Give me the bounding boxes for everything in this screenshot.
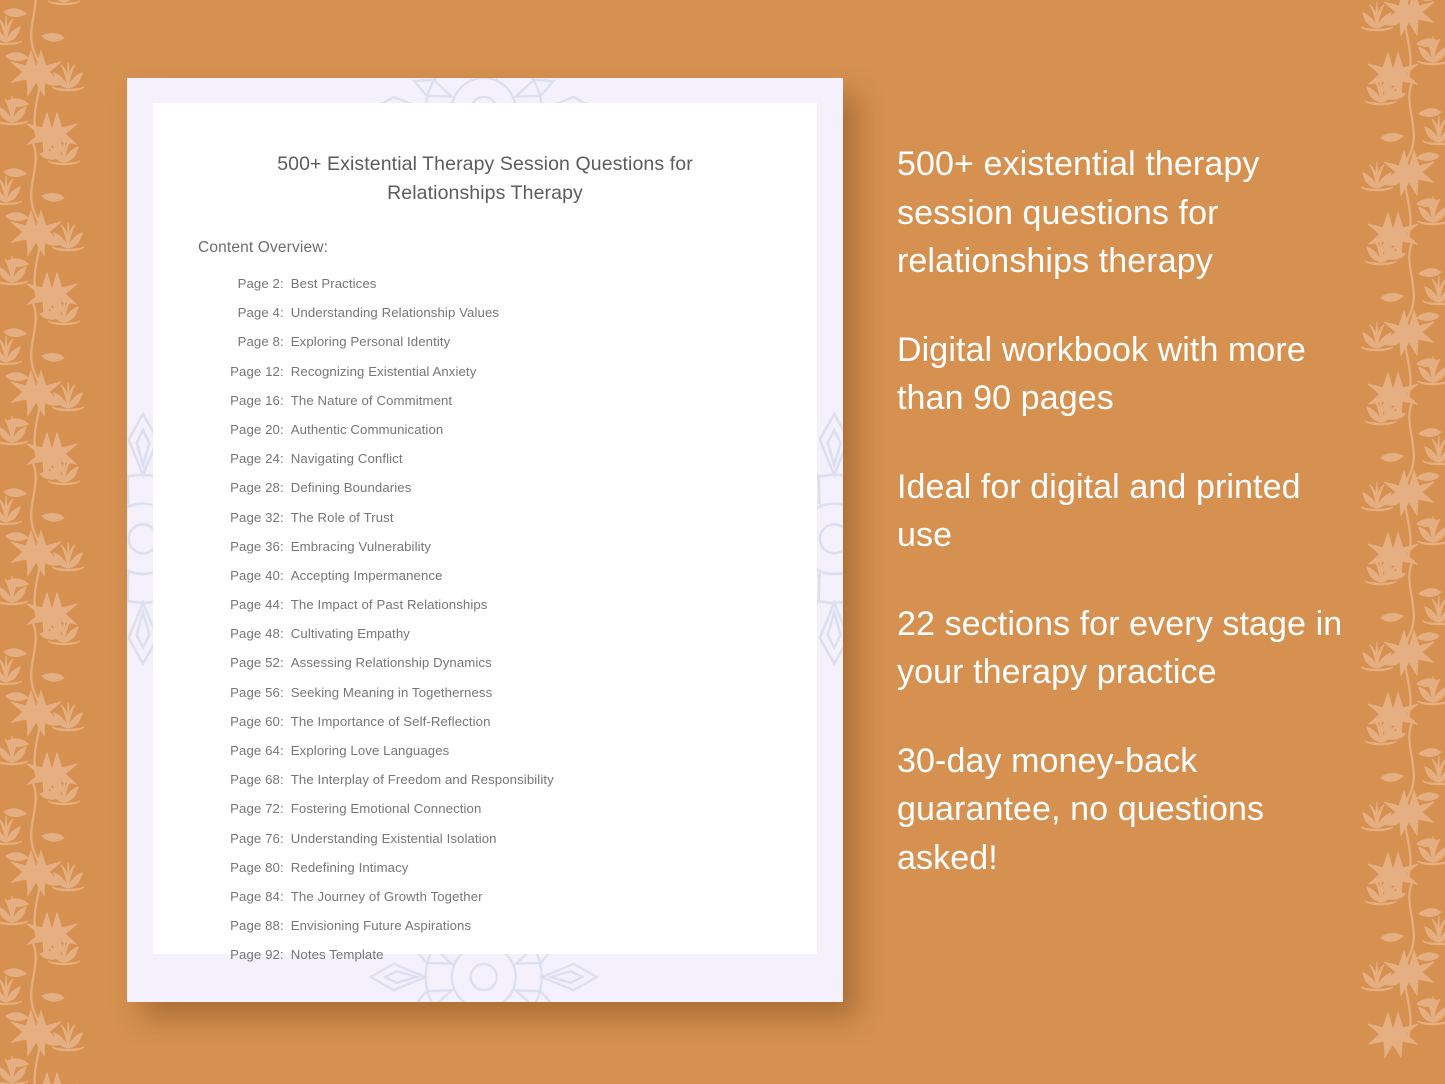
toc-separator: : (280, 480, 291, 495)
toc-page-number: Page 92 (221, 947, 280, 962)
promo-block: 500+ existential therapy session questio… (897, 140, 1357, 286)
toc-row: Page 12:Recognizing Existential Anxiety (153, 364, 817, 393)
toc-separator: : (280, 276, 291, 291)
toc-row: Page 4:Understanding Relationship Values (153, 305, 817, 334)
toc-separator: : (280, 918, 291, 933)
table-of-contents: Page 2:Best PracticesPage 4:Understandin… (153, 257, 817, 977)
toc-separator: : (280, 772, 291, 787)
toc-separator: : (280, 364, 291, 379)
toc-row: Page 80:Redefining Intimacy (153, 860, 817, 889)
toc-page-number: Page 48 (221, 626, 280, 641)
toc-section-title: Authentic Communication (291, 422, 444, 437)
toc-row: Page 72:Fostering Emotional Connection (153, 801, 817, 830)
content-overview-label: Content Overview: (153, 207, 817, 257)
toc-section-title: The Role of Trust (291, 510, 394, 525)
toc-page-number: Page 16 (221, 393, 280, 408)
toc-section-title: Fostering Emotional Connection (291, 801, 482, 816)
toc-row: Page 52:Assessing Relationship Dynamics (153, 655, 817, 684)
toc-row: Page 44:The Impact of Past Relationships (153, 597, 817, 626)
toc-row: Page 84:The Journey of Growth Together (153, 889, 817, 918)
toc-page-number: Page 32 (221, 510, 280, 525)
toc-separator: : (280, 568, 291, 583)
toc-row: Page 48:Cultivating Empathy (153, 626, 817, 655)
toc-page-number: Page 84 (221, 889, 280, 904)
promo-block: 22 sections for every stage in your ther… (897, 600, 1357, 697)
toc-page-number: Page 12 (221, 364, 280, 379)
toc-separator: : (280, 539, 291, 554)
promo-block: 30-day money-back guarantee, no question… (897, 737, 1357, 883)
toc-page-number: Page 8 (221, 334, 280, 349)
toc-separator: : (280, 860, 291, 875)
toc-separator: : (280, 831, 291, 846)
toc-row: Page 20:Authentic Communication (153, 422, 817, 451)
toc-section-title: The Impact of Past Relationships (291, 597, 488, 612)
toc-separator: : (280, 714, 291, 729)
toc-section-title: Envisioning Future Aspirations (291, 918, 471, 933)
toc-separator: : (280, 451, 291, 466)
toc-row: Page 88:Envisioning Future Aspirations (153, 918, 817, 947)
product-listing-image: 500+ Existential Therapy Session Questio… (0, 0, 1445, 1084)
toc-section-title: The Interplay of Freedom and Responsibil… (291, 772, 554, 787)
toc-separator: : (280, 685, 291, 700)
toc-separator: : (280, 626, 291, 641)
toc-page-number: Page 4 (221, 305, 280, 320)
toc-section-title: Embracing Vulnerability (291, 539, 431, 554)
toc-row: Page 16:The Nature of Commitment (153, 393, 817, 422)
toc-separator: : (280, 801, 291, 816)
toc-page-number: Page 80 (221, 860, 280, 875)
toc-section-title: Redefining Intimacy (291, 860, 409, 875)
floral-vine-border-left-icon (0, 0, 142, 1084)
toc-separator: : (280, 947, 291, 962)
toc-row: Page 60:The Importance of Self-Reflectio… (153, 714, 817, 743)
toc-separator: : (280, 334, 291, 349)
toc-page-number: Page 56 (221, 685, 280, 700)
toc-section-title: Assessing Relationship Dynamics (291, 655, 492, 670)
toc-section-title: Exploring Personal Identity (291, 334, 451, 349)
toc-section-title: Understanding Relationship Values (291, 305, 499, 320)
toc-separator: : (280, 889, 291, 904)
toc-row: Page 24:Navigating Conflict (153, 451, 817, 480)
promo-copy-column: 500+ existential therapy session questio… (897, 140, 1357, 882)
toc-page-number: Page 20 (221, 422, 280, 437)
toc-section-title: The Importance of Self-Reflection (291, 714, 491, 729)
toc-page-number: Page 40 (221, 568, 280, 583)
toc-row: Page 36:Embracing Vulnerability (153, 539, 817, 568)
toc-page-number: Page 72 (221, 801, 280, 816)
toc-section-title: Best Practices (291, 276, 377, 291)
workbook-preview-card: 500+ Existential Therapy Session Questio… (127, 78, 843, 1002)
toc-separator: : (280, 422, 291, 437)
toc-section-title: Defining Boundaries (291, 480, 412, 495)
toc-section-title: Exploring Love Languages (291, 743, 450, 758)
toc-page-number: Page 24 (221, 451, 280, 466)
toc-row: Page 32:The Role of Trust (153, 510, 817, 539)
workbook-page-sheet: 500+ Existential Therapy Session Questio… (153, 103, 817, 954)
toc-row: Page 68:The Interplay of Freedom and Res… (153, 772, 817, 801)
promo-block: Digital workbook with more than 90 pages (897, 326, 1357, 423)
toc-page-number: Page 44 (221, 597, 280, 612)
toc-row: Page 92:Notes Template (153, 947, 817, 976)
toc-separator: : (280, 597, 291, 612)
toc-separator: : (280, 393, 291, 408)
toc-separator: : (280, 305, 291, 320)
toc-row: Page 8:Exploring Personal Identity (153, 334, 817, 363)
page-title: 500+ Existential Therapy Session Questio… (153, 103, 817, 207)
toc-row: Page 56:Seeking Meaning in Togetherness (153, 685, 817, 714)
toc-section-title: Accepting Impermanence (291, 568, 443, 583)
toc-page-number: Page 36 (221, 539, 280, 554)
toc-separator: : (280, 655, 291, 670)
promo-block: Ideal for digital and printed use (897, 463, 1357, 560)
toc-page-number: Page 2 (221, 276, 280, 291)
toc-page-number: Page 52 (221, 655, 280, 670)
toc-row: Page 40:Accepting Impermanence (153, 568, 817, 597)
toc-page-number: Page 64 (221, 743, 280, 758)
toc-row: Page 28:Defining Boundaries (153, 480, 817, 509)
toc-section-title: Seeking Meaning in Togetherness (291, 685, 493, 700)
toc-section-title: The Journey of Growth Together (291, 889, 483, 904)
toc-section-title: The Nature of Commitment (291, 393, 452, 408)
toc-section-title: Recognizing Existential Anxiety (291, 364, 477, 379)
toc-separator: : (280, 510, 291, 525)
toc-page-number: Page 88 (221, 918, 280, 933)
toc-row: Page 64:Exploring Love Languages (153, 743, 817, 772)
toc-section-title: Understanding Existential Isolation (291, 831, 497, 846)
toc-page-number: Page 76 (221, 831, 280, 846)
toc-section-title: Notes Template (291, 947, 384, 962)
toc-page-number: Page 28 (221, 480, 280, 495)
toc-row: Page 76:Understanding Existential Isolat… (153, 831, 817, 860)
toc-row: Page 2:Best Practices (153, 276, 817, 305)
toc-page-number: Page 68 (221, 772, 280, 787)
toc-section-title: Cultivating Empathy (291, 626, 410, 641)
toc-section-title: Navigating Conflict (291, 451, 403, 466)
toc-separator: : (280, 743, 291, 758)
toc-page-number: Page 60 (221, 714, 280, 729)
